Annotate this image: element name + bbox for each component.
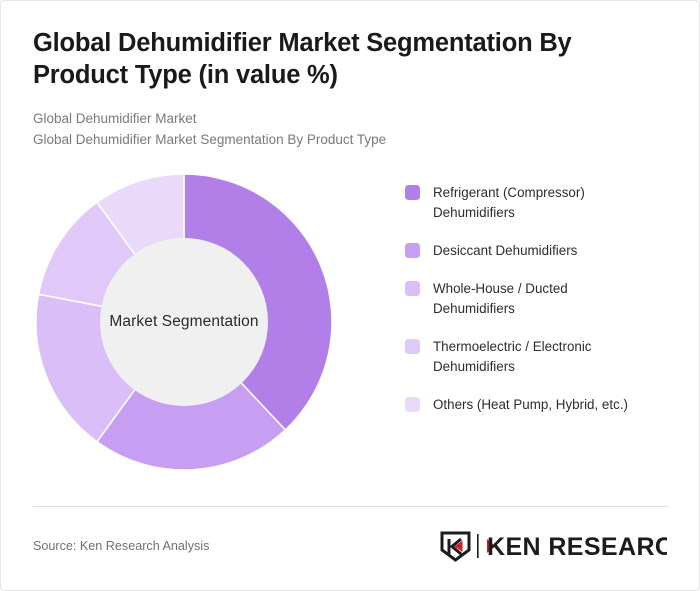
legend-item-label: Others (Heat Pump, Hybrid, etc.) xyxy=(433,395,628,414)
ken-research-logo-svg: KEN RESEARCH xyxy=(439,530,667,562)
chart-area: Market Segmentation Refrigerant (Compres… xyxy=(1,151,699,497)
legend-item[interactable]: Others (Heat Pump, Hybrid, etc.) xyxy=(405,395,685,414)
legend-item-label: Desiccant Dehumidifiers xyxy=(433,241,577,260)
legend-item-label: Refrigerant (Compressor) Dehumidifiers xyxy=(433,183,633,222)
logo-wordmark: KEN RESEARCH xyxy=(487,533,667,561)
legend-swatch-icon xyxy=(405,243,420,258)
subtitle-group: Global Dehumidifier Market Global Dehumi… xyxy=(33,109,667,151)
donut-chart-svg xyxy=(29,167,339,477)
legend-item[interactable]: Desiccant Dehumidifiers xyxy=(405,241,685,260)
legend-item[interactable]: Whole-House / Ducted Dehumidifiers xyxy=(405,279,685,318)
source-note: Source: Ken Research Analysis xyxy=(33,539,209,553)
donut-hole xyxy=(100,238,268,406)
legend-item-label: Whole-House / Ducted Dehumidifiers xyxy=(433,279,633,318)
legend-item[interactable]: Refrigerant (Compressor) Dehumidifiers xyxy=(405,183,685,222)
legend-swatch-icon xyxy=(405,339,420,354)
logo-separator xyxy=(477,534,479,558)
chart-card: Global Dehumidifier Market Segmentation … xyxy=(0,0,700,591)
card-footer: Source: Ken Research Analysis KEN RESEAR… xyxy=(33,523,667,569)
legend-item[interactable]: Thermoelectric / Electronic Dehumidifier… xyxy=(405,337,685,376)
legend-swatch-icon xyxy=(405,397,420,412)
legend-item-label: Thermoelectric / Electronic Dehumidifier… xyxy=(433,337,633,376)
subtitle-segmentation: Global Dehumidifier Market Segmentation … xyxy=(33,130,667,151)
footer-divider xyxy=(33,506,667,507)
legend-swatch-icon xyxy=(405,185,420,200)
ken-research-logo: KEN RESEARCH xyxy=(439,530,667,562)
legend-swatch-icon xyxy=(405,281,420,296)
card-header: Global Dehumidifier Market Segmentation … xyxy=(1,1,699,151)
page-title: Global Dehumidifier Market Segmentation … xyxy=(33,27,667,91)
chart-legend: Refrigerant (Compressor) DehumidifiersDe… xyxy=(405,183,699,415)
subtitle-market: Global Dehumidifier Market xyxy=(33,109,667,130)
shield-k-icon xyxy=(442,533,469,560)
donut-chart: Market Segmentation xyxy=(29,167,339,477)
